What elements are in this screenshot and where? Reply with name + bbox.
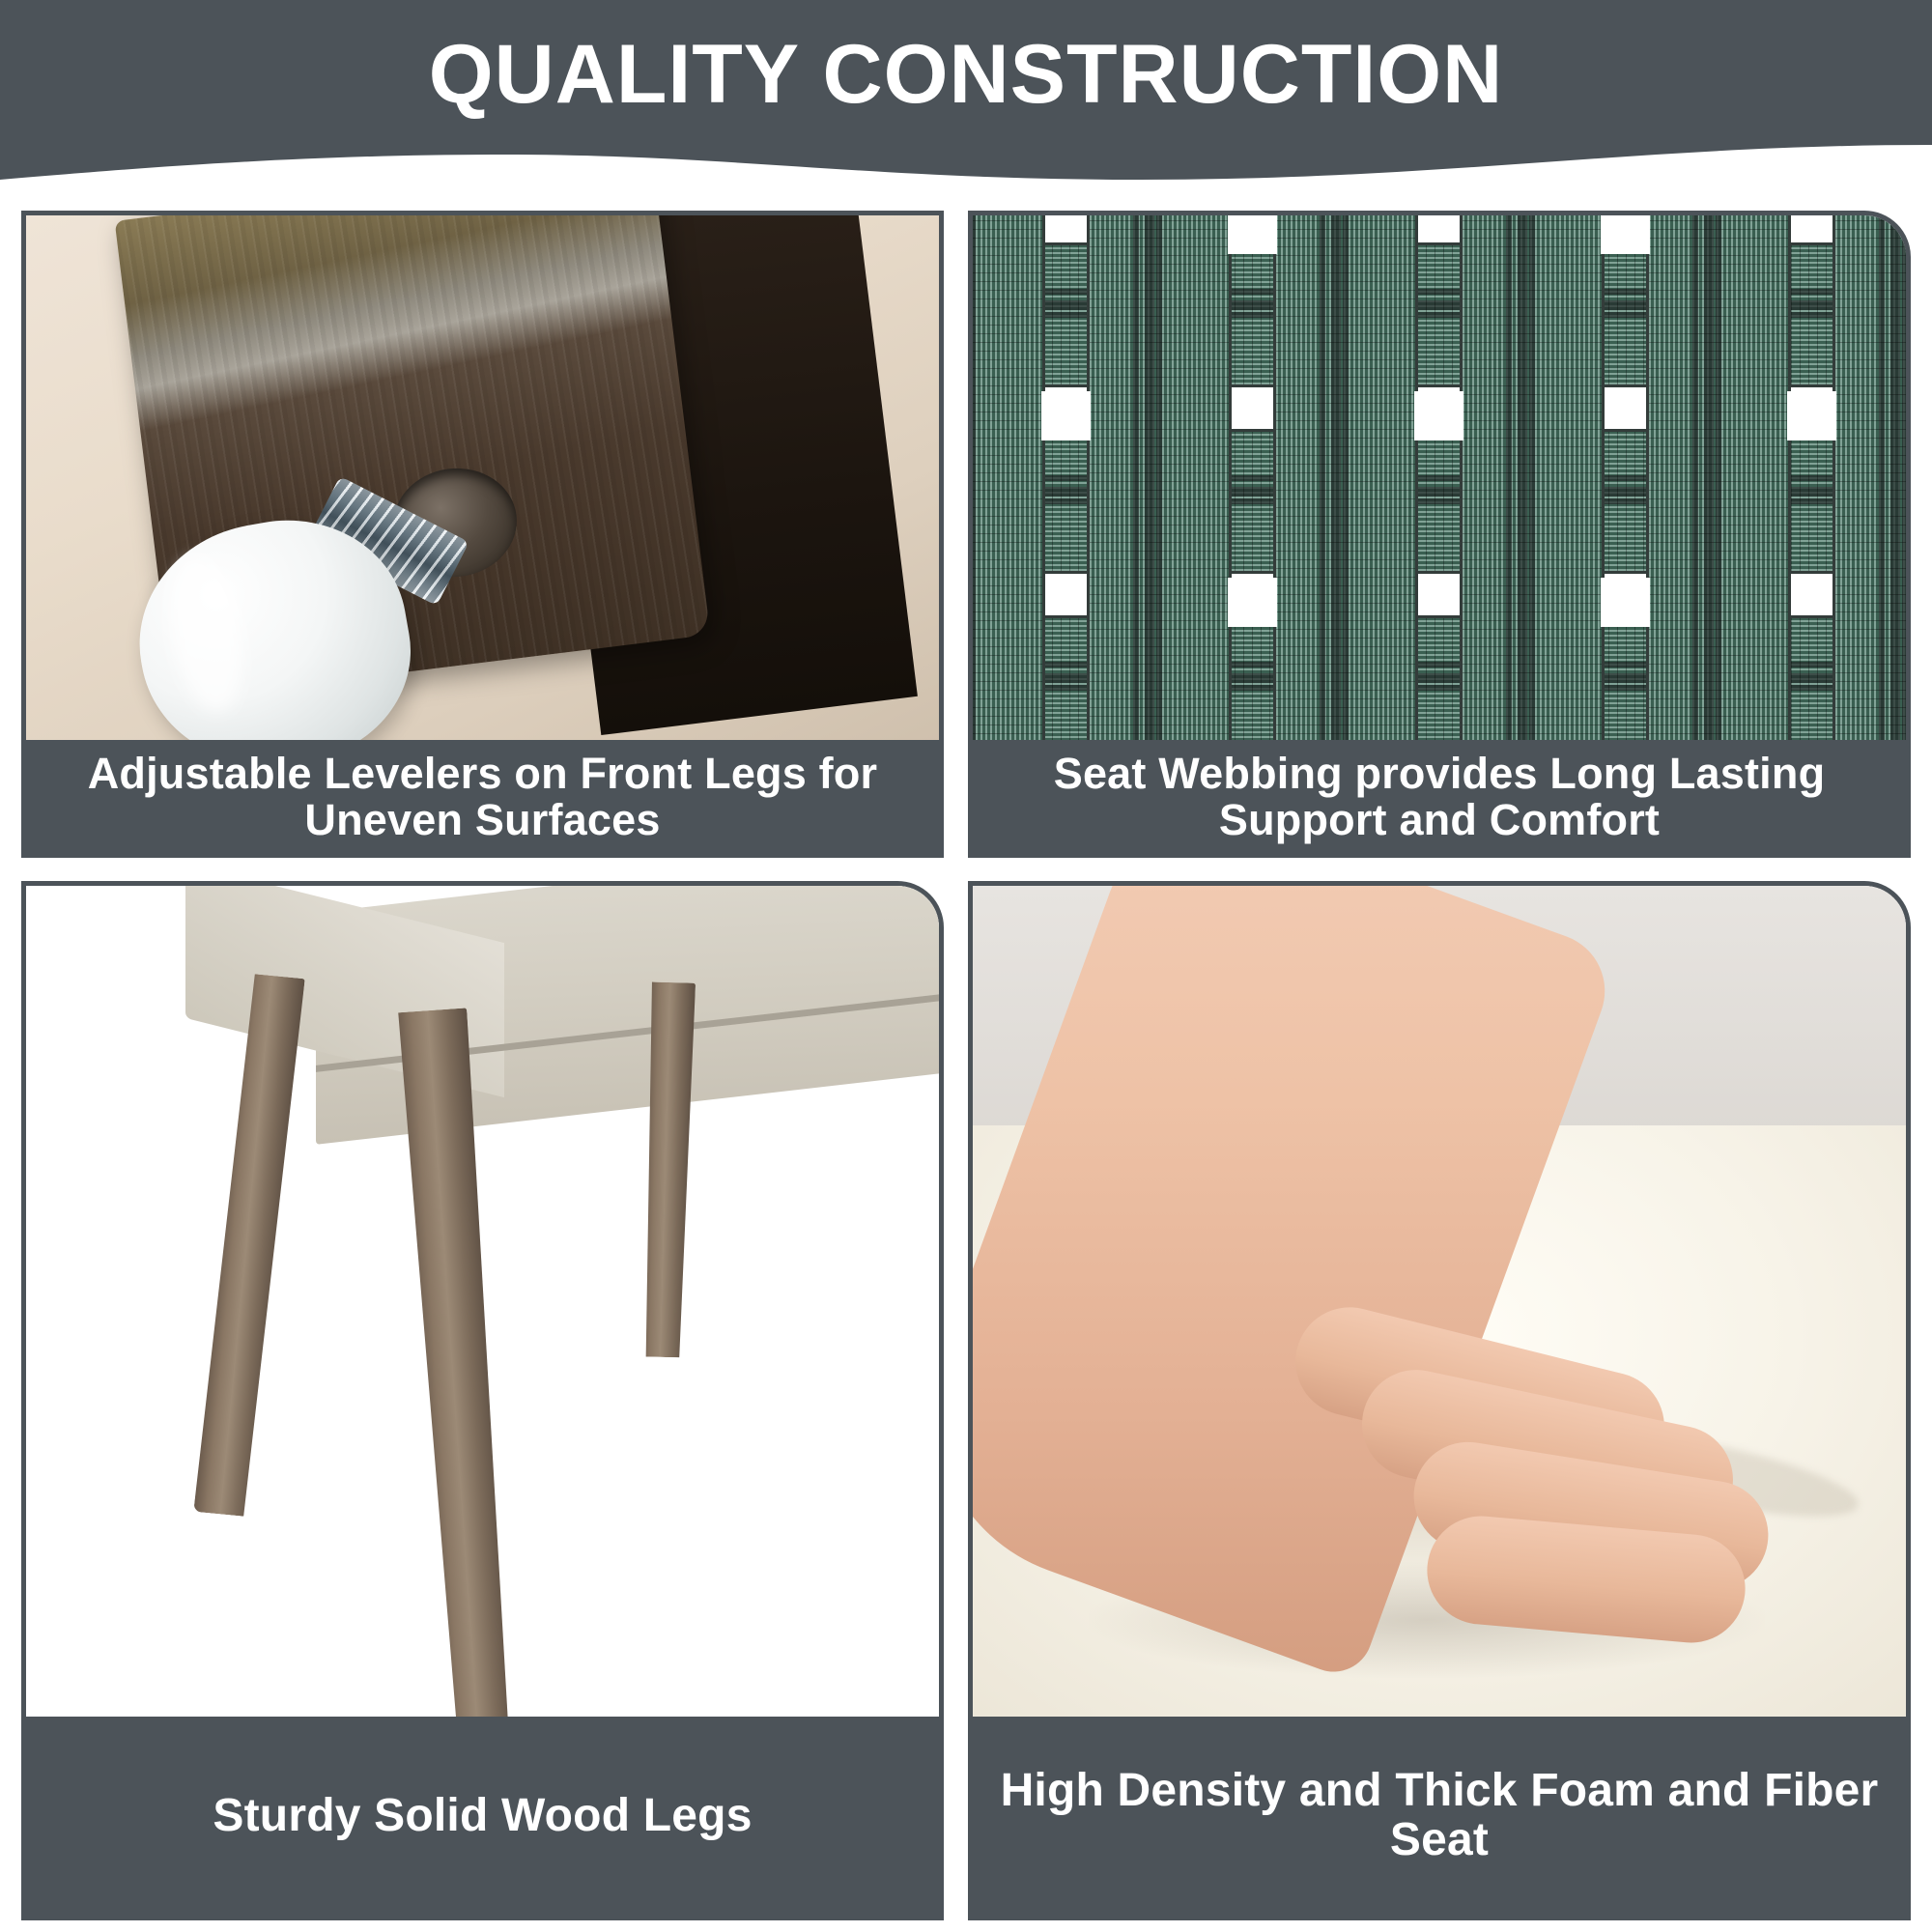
webbing-plaid-stripe — [1890, 215, 1900, 744]
header-banner: QUALITY CONSTRUCTION — [0, 0, 1932, 184]
panel-caption: High Density and Thick Foam and Fiber Se… — [973, 1717, 1906, 1916]
leveler-photo — [26, 215, 939, 744]
webbing-plaid-stripe — [973, 215, 976, 744]
panel-adjustable-levelers: Adjustable Levelers on Front Legs for Un… — [21, 211, 944, 858]
webbing-photo — [973, 215, 1906, 744]
webbing-gap — [1041, 391, 1091, 440]
webbing-strap-vertical — [1460, 215, 1605, 744]
webbing-gap — [1601, 215, 1650, 254]
webbing-plaid-stripe — [1133, 215, 1139, 744]
webbing-plaid-stripe — [1331, 215, 1341, 744]
panel-caption: Adjustable Levelers on Front Legs for Un… — [26, 740, 939, 853]
webbing-plaid-stripe — [1156, 215, 1162, 744]
webbing-strap-vertical — [1087, 215, 1232, 744]
webbing-plaid-stripe — [1145, 215, 1154, 744]
panel-caption: Sturdy Solid Wood Legs — [26, 1717, 939, 1916]
webbing-strap-vertical — [973, 215, 1045, 744]
webbing-plaid-stripe — [1343, 215, 1349, 744]
webbing-gap — [1228, 578, 1277, 627]
webbing-plaid-stripe — [1704, 215, 1714, 744]
page-title: QUALITY CONSTRUCTION — [0, 33, 1932, 116]
webbing-plaid-stripe — [1692, 215, 1698, 744]
webbing-plaid-stripe — [1879, 215, 1885, 744]
webbing-weave-graphic — [973, 215, 1906, 744]
webbing-gap — [1787, 391, 1836, 440]
panel-foam-fiber-seat: High Density and Thick Foam and Fiber Se… — [968, 881, 1911, 1920]
panel-caption: Seat Webbing provides Long Lasting Suppo… — [973, 740, 1906, 853]
webbing-strap-vertical — [1833, 215, 1906, 744]
wood-legs-photo — [26, 886, 939, 1719]
webbing-gap — [1228, 215, 1277, 254]
webbing-gap — [1414, 391, 1463, 440]
webbing-plaid-stripe — [1529, 215, 1535, 744]
webbing-gap — [1601, 578, 1650, 627]
webbing-strap-vertical — [1646, 215, 1791, 744]
webbing-plaid-stripe — [1518, 215, 1527, 744]
webbing-strap-vertical — [1273, 215, 1418, 744]
webbing-plaid-stripe — [1716, 215, 1721, 744]
webbing-plaid-stripe — [1902, 215, 1906, 744]
infographic-page: QUALITY CONSTRUCTION Adjustable Levelers… — [0, 0, 1932, 1932]
foot-highlight — [159, 553, 253, 717]
webbing-plaid-stripe — [1506, 215, 1512, 744]
feature-panel-grid: Adjustable Levelers on Front Legs for Un… — [21, 211, 1911, 1920]
panel-solid-wood-legs: Sturdy Solid Wood Legs — [21, 881, 944, 1920]
foam-photo — [973, 886, 1906, 1719]
panel-seat-webbing: Seat Webbing provides Long Lasting Suppo… — [968, 211, 1911, 858]
webbing-plaid-stripe — [1320, 215, 1325, 744]
